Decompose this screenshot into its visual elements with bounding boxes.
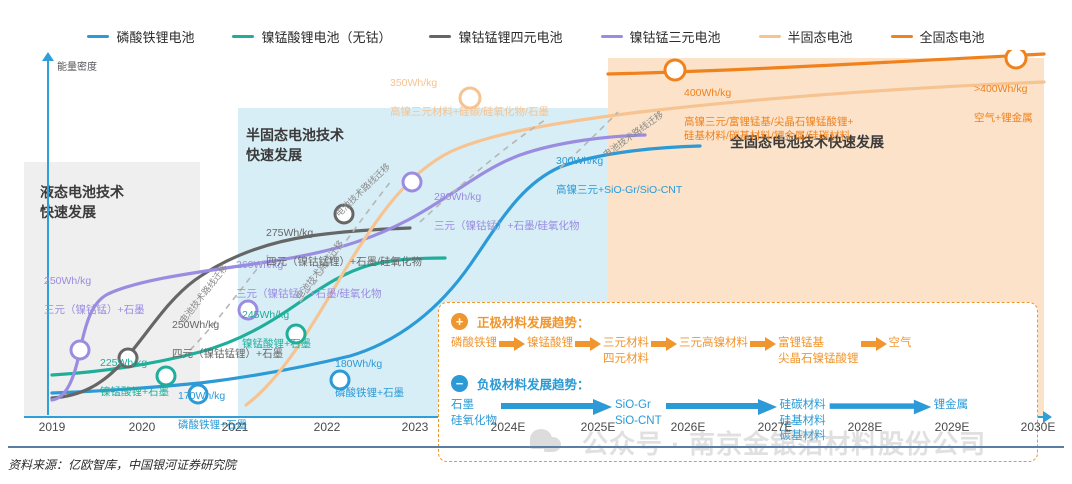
legend-label-ncml: 镍钴锰锂四元电池 — [458, 27, 562, 46]
callout-value: 350Wh/kg — [390, 77, 437, 89]
x-tick-2020: 2020 — [129, 420, 156, 434]
legend-label-lfp: 磷酸铁锂电池 — [116, 27, 194, 46]
legend-item-allsolid[interactable]: 全固态电池 — [891, 27, 985, 46]
cathode-trend-title: 正极材料发展趋势： — [477, 312, 590, 331]
x-tick-2023: 2023 — [402, 420, 429, 434]
marker-all-solid-2030 — [1006, 50, 1026, 68]
callout-300-lfp: 300Wh/kg 高镍三元+SiO-Gr/SiO-CNT — [556, 140, 682, 197]
anode-trend-title: 负极材料发展趋势： — [477, 374, 590, 393]
x-tick-2027E: 2027E — [758, 420, 793, 434]
long-arrow-right-icon — [662, 398, 780, 416]
cathode-node-1: 镍锰酸锂 — [527, 336, 573, 352]
x-tick-2028E: 2028E — [848, 420, 883, 434]
legend-label-semisolid: 半固态电池 — [788, 27, 853, 46]
anode-node-3: 锂金属 — [934, 398, 969, 414]
callout-value: >400Wh/kg — [974, 83, 1027, 95]
x-tick-2025E: 2025E — [581, 420, 616, 434]
legend-item-lfp[interactable]: 磷酸铁锂电池 — [87, 27, 194, 46]
callout-value: 250Wh/kg — [44, 275, 91, 287]
callout-180-lfp: 180Wh/kg 磷酸铁锂+石墨 — [335, 343, 404, 400]
cathode-trend-header: + 正极材料发展趋势： — [451, 312, 1025, 331]
cathode-chain: 磷酸铁锂 镍锰酸锂 三元材料 四元材料 三元高镍材料 富锂锰基 尖晶石镍锰酸锂 — [451, 336, 1025, 367]
callout-material: 镍锰酸锂+石墨 — [242, 338, 311, 350]
x-tick-2024E: 2024E — [491, 420, 526, 434]
arrow-right-icon — [497, 336, 527, 352]
minus-icon: − — [451, 375, 468, 392]
long-arrow-right-icon — [826, 398, 934, 416]
legend-swatch-semisolid — [759, 35, 781, 38]
callout-value: 245Wh/kg — [242, 309, 289, 321]
callout-225-lnmo: 225Wh/kg 镍锰酸锂+石墨 — [100, 342, 169, 399]
footer-divider — [8, 446, 1064, 448]
callout-material: 磷酸铁锂+石墨 — [335, 387, 404, 399]
callout-material: 三元（镍钴锰）+石墨/硅氧化物 — [434, 220, 580, 232]
cathode-node-3: 三元高镍材料 — [679, 336, 748, 352]
arrow-right-icon — [573, 336, 603, 352]
legend-item-semisolid[interactable]: 半固态电池 — [759, 27, 853, 46]
legend-label-ncm: 镍钴锰三元电池 — [630, 27, 721, 46]
x-tick-2026E: 2026E — [671, 420, 706, 434]
legend-swatch-lnmo — [232, 35, 254, 38]
long-arrow-right-icon — [497, 398, 615, 416]
callout-material: 四元（镍钴锰锂）+石墨/硅氧化物 — [266, 256, 422, 268]
x-tick-2021: 2021 — [222, 420, 249, 434]
arrow-right-icon — [748, 336, 778, 352]
callout-value: 275Wh/kg — [266, 227, 313, 239]
callout-material: 三元（镍钴锰）+石墨 — [44, 304, 145, 316]
x-tick-2022: 2022 — [314, 420, 341, 434]
x-axis-tick-labels: 2019 2020 2021 2022 2023 2024E 2025E 202… — [0, 420, 1072, 440]
callout-value: 280Wh/kg — [434, 191, 481, 203]
callout-material: 高镍三元材料+硅碳/硅氧化物/石墨 — [390, 106, 549, 118]
marker-all-solid-2026 — [665, 60, 685, 80]
callout-material: 镍锰酸锂+石墨 — [100, 386, 169, 398]
callout-value: 225Wh/kg — [100, 357, 147, 369]
x-tick-2029E: 2029E — [935, 420, 970, 434]
callout-value: 300Wh/kg — [556, 155, 603, 167]
callout-value: 180Wh/kg — [335, 358, 382, 370]
callout-value: 170Wh/kg — [178, 390, 225, 402]
x-tick-2019: 2019 — [39, 420, 66, 434]
source-note: 资料来源：亿欧智库，中国银河证券研究院 — [8, 456, 236, 473]
legend-item-lnmo[interactable]: 镍锰酸锂电池（无钴） — [232, 27, 391, 46]
legend-swatch-allsolid — [891, 35, 913, 38]
arrow-right-icon — [859, 336, 889, 352]
callout-400-allsolid: 400Wh/kg 高镍三元/富锂锰基/尖晶石镍锰酸锂+ 硅基材料/碳基材料/锂金… — [684, 72, 853, 143]
callout-275-ncml: 275Wh/kg 四元（镍钴锰锂）+石墨/硅氧化物 — [266, 212, 422, 269]
chart-legend: 磷酸铁锂电池 镍锰酸锂电池（无钴） 镍钴锰锂四元电池 镍钴锰三元电池 半固态电池… — [0, 26, 1072, 46]
legend-item-ncml[interactable]: 镍钴锰锂四元电池 — [429, 27, 562, 46]
callout-value: 250Wh/kg — [172, 319, 219, 331]
cathode-node-2: 三元材料 四元材料 — [603, 336, 649, 367]
plot-area: 液态电池技术 快速发展 半固态电池技术 快速发展 全固态电池技术快速发展 能量密… — [0, 50, 1072, 422]
cathode-node-0: 磷酸铁锂 — [451, 336, 497, 352]
x-tick-2030E: 2030E — [1021, 420, 1056, 434]
callout-material: 高镍三元/富锂锰基/尖晶石镍锰酸锂+ 硅基材料/碳基材料/锂金属/硅碳材料 — [684, 116, 853, 142]
callout-over400-allsolid: >400Wh/kg 空气+锂金属 — [974, 68, 1033, 125]
anode-trend-header: − 负极材料发展趋势： — [451, 374, 1025, 393]
marker-ncm-2023 — [403, 173, 421, 191]
callout-250-ncm: 250Wh/kg 三元（镍钴锰）+石墨 — [44, 260, 145, 317]
plus-icon: + — [451, 313, 468, 330]
arrow-right-icon — [649, 336, 679, 352]
cathode-node-4: 富锂锰基 尖晶石镍锰酸锂 — [778, 336, 859, 367]
legend-swatch-ncml — [429, 35, 451, 38]
legend-item-ncm[interactable]: 镍钴锰三元电池 — [601, 27, 721, 46]
callout-value: 400Wh/kg — [684, 87, 731, 99]
chart-page: 磷酸铁锂电池 镍锰酸锂电池（无钴） 镍钴锰锂四元电池 镍钴锰三元电池 半固态电池… — [0, 0, 1072, 484]
legend-label-allsolid: 全固态电池 — [920, 27, 985, 46]
callout-material: 空气+锂金属 — [974, 112, 1033, 124]
legend-swatch-ncm — [601, 35, 623, 38]
callout-350-semisolid: 350Wh/kg 高镍三元材料+硅碳/硅氧化物/石墨 — [390, 62, 549, 119]
marker-ncm-2019 — [71, 341, 89, 359]
callout-material: 高镍三元+SiO-Gr/SiO-CNT — [556, 184, 682, 196]
legend-swatch-lfp — [87, 35, 109, 38]
legend-label-lnmo: 镍锰酸锂电池（无钴） — [261, 27, 391, 46]
cathode-node-5: 空气 — [889, 336, 912, 352]
callout-245-lnmo: 245Wh/kg 镍锰酸锂+石墨 — [242, 294, 311, 351]
